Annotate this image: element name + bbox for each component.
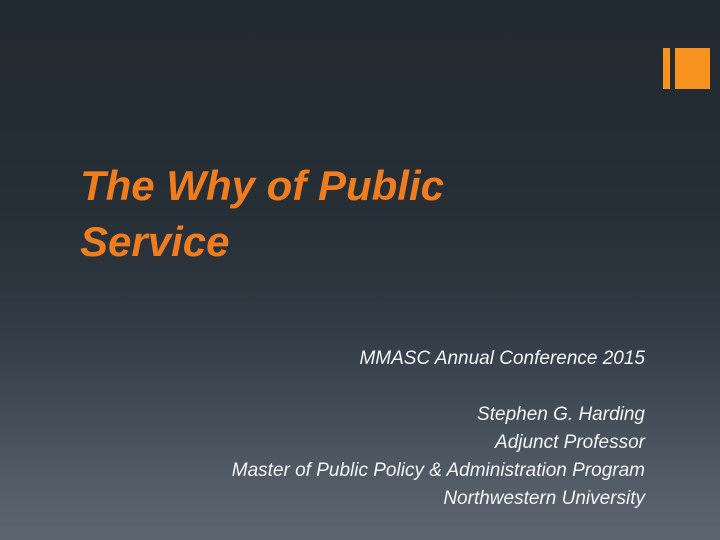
- subtitle-presenter: Stephen G. Harding: [60, 401, 645, 429]
- subtitle-role: Adjunct Professor: [60, 429, 645, 457]
- accent-bar-thin-icon: [663, 48, 670, 89]
- subtitle-program: Master of Public Policy & Administration…: [60, 457, 645, 485]
- slide-title-line-1: The Why of Public: [80, 158, 600, 214]
- subtitle-institution: Northwestern University: [60, 485, 645, 513]
- slide-title: The Why of Public Service: [80, 158, 600, 270]
- accent-bar-wide-icon: [675, 48, 710, 89]
- slide-title-line-2: Service: [80, 214, 600, 270]
- subtitle-conference: MMASC Annual Conference 2015: [60, 345, 645, 373]
- presentation-slide: The Why of Public Service MMASC Annual C…: [0, 0, 720, 540]
- slide-subtitle: MMASC Annual Conference 2015 Stephen G. …: [60, 345, 645, 513]
